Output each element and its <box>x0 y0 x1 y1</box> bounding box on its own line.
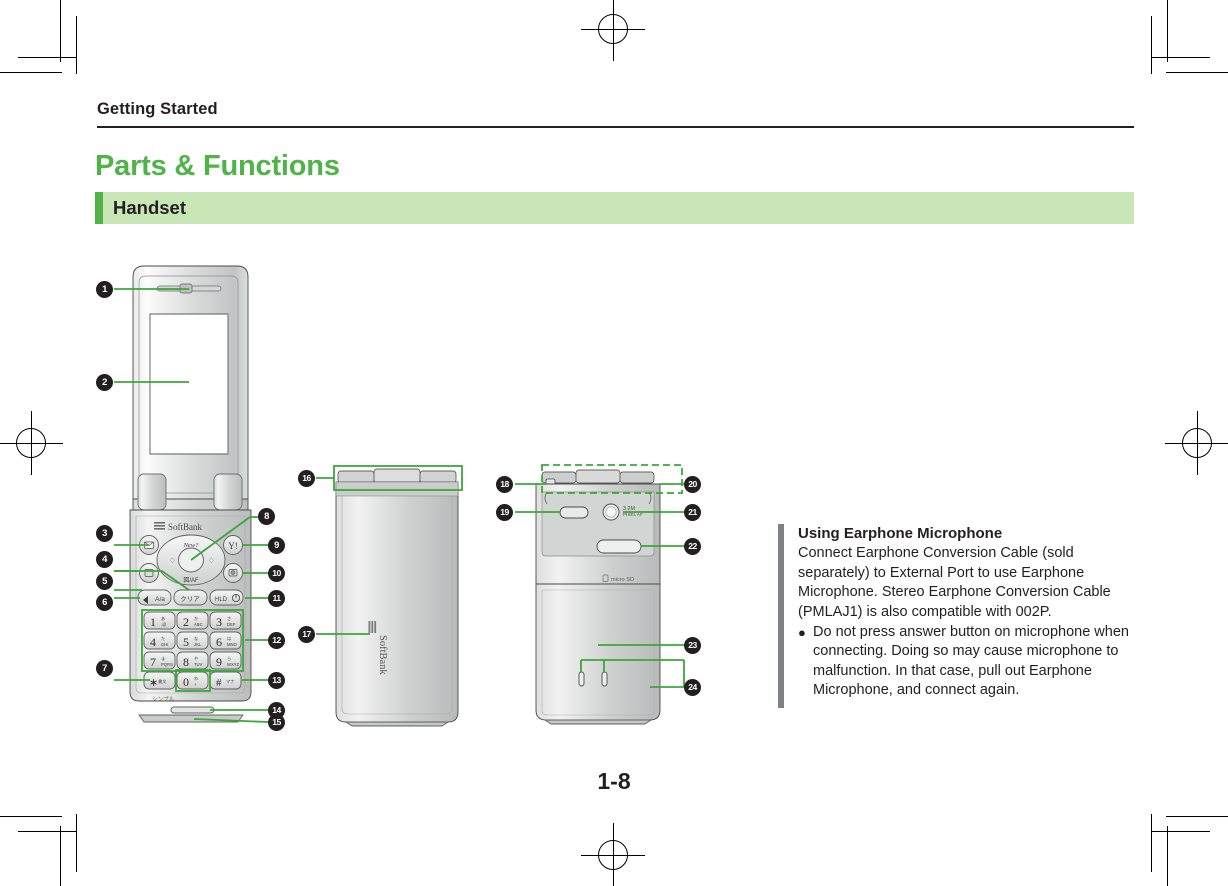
svg-text:New?: New? <box>183 542 200 549</box>
svg-text:6: 6 <box>216 635 222 649</box>
svg-text:クリア: クリア <box>180 595 200 603</box>
callout-19: 19 <box>496 504 513 521</box>
svg-text:1: 1 <box>150 615 156 629</box>
svg-text:DEF: DEF <box>227 622 236 627</box>
callout-10: 10 <box>268 565 285 582</box>
earphone-note: Using Earphone Microphone Connect Earpho… <box>778 524 1130 701</box>
svg-text:TUV: TUV <box>194 662 203 667</box>
callout-11: 11 <box>268 590 285 607</box>
callout-17: 17 <box>298 626 315 643</box>
callout-1: 1 <box>96 281 113 298</box>
svg-text:SoftBank: SoftBank <box>168 522 203 532</box>
callout-9: 9 <box>268 537 285 554</box>
callout-15: 15 <box>268 714 285 731</box>
svg-text:わ: わ <box>194 675 198 681</box>
callout-13: 13 <box>268 672 285 689</box>
crop-mark-top-left-v <box>60 0 61 62</box>
handset-figure: SoftBank New? 図/AF ♢ ♢ Y! <box>90 260 730 740</box>
crop-mark-bottom-left-v <box>60 826 61 886</box>
page-number: 1-8 <box>0 768 1228 795</box>
crop-mark-bottom-left-inner-h <box>18 831 76 832</box>
callout-3: 3 <box>96 525 113 542</box>
callout-6: 6 <box>96 594 113 611</box>
note-bullet-item: ● Do not press answer button on micropho… <box>798 623 1130 701</box>
document-page: Getting Started Parts & Functions Handse… <box>0 0 1228 886</box>
svg-text:SoftBank: SoftBank <box>377 635 388 675</box>
header-rule <box>97 126 1134 128</box>
svg-text:な: な <box>194 635 198 641</box>
crop-mark-bottom-right-inner-h <box>1152 831 1210 832</box>
crop-mark-top-right-inner-v <box>1151 16 1152 74</box>
callout-12: 12 <box>268 632 285 649</box>
page-title: Parts & Functions <box>95 150 340 183</box>
callout-2: 2 <box>96 374 113 391</box>
svg-text:HLD: HLD <box>215 597 228 603</box>
note-accent-bar <box>778 524 784 708</box>
svg-text:書文: 書文 <box>158 678 167 685</box>
svg-text:8: 8 <box>183 655 189 669</box>
svg-text:.@: .@ <box>161 622 166 627</box>
section-title: Handset <box>113 197 186 219</box>
svg-text:ABC: ABC <box>194 622 203 627</box>
svg-text:0: 0 <box>183 675 189 689</box>
callout-24: 24 <box>684 679 701 696</box>
note-title: Using Earphone Microphone <box>798 524 1130 543</box>
svg-text:MNO: MNO <box>227 642 238 647</box>
crop-mark-bottom-right-h <box>1166 816 1228 817</box>
section-header-bar: Handset <box>95 192 1134 224</box>
svg-text:micro SD: micro SD <box>611 577 634 583</box>
svg-text:シンプル: シンプル <box>152 696 175 703</box>
rear-view: 3.2M PIXEL AF micro SD <box>536 470 660 724</box>
svg-text:♢: ♢ <box>208 556 215 565</box>
svg-text:WXYZ: WXYZ <box>227 662 240 667</box>
svg-text:JKL: JKL <box>194 642 202 647</box>
section-accent <box>95 192 103 224</box>
callout-5: 5 <box>96 573 113 590</box>
crop-mark-top-left-h <box>0 72 62 73</box>
svg-text:Y!: Y! <box>228 541 238 551</box>
svg-text:5: 5 <box>183 635 189 649</box>
svg-text:GHI: GHI <box>161 642 168 647</box>
svg-text:ま: ま <box>161 656 165 661</box>
running-head: Getting Started <box>97 100 218 119</box>
crop-mark-bottom-left-h <box>0 816 62 817</box>
callout-21: 21 <box>684 504 701 521</box>
bullet-dot-icon: ● <box>798 623 813 701</box>
crop-mark-top-right-v <box>1167 0 1168 62</box>
side-closed-view: SoftBank <box>336 469 458 726</box>
svg-text:A/a: A/a <box>155 596 165 603</box>
callout-16: 16 <box>298 470 315 487</box>
crop-mark-top-right-h <box>1166 72 1228 73</box>
crop-mark-bottom-left-inner-v <box>76 814 77 872</box>
callout-22: 22 <box>684 538 701 555</box>
crop-mark-top-right-inner-h <box>1152 57 1210 58</box>
crop-mark-top-left-inner-h <box>18 57 76 58</box>
callout-8: 8 <box>258 508 275 525</box>
callout-20: 20 <box>684 476 701 493</box>
svg-text:♢: ♢ <box>169 556 176 565</box>
svg-text:図/AF: 図/AF <box>183 577 199 584</box>
svg-text:PQRS: PQRS <box>161 662 173 667</box>
svg-text:7: 7 <box>150 655 156 669</box>
svg-text:2: 2 <box>183 615 189 629</box>
callout-18: 18 <box>496 476 513 493</box>
svg-text:4: 4 <box>150 635 156 649</box>
front-open-view: SoftBank New? 図/AF ♢ ♢ Y! <box>130 266 251 722</box>
svg-text:さ: さ <box>227 615 231 621</box>
svg-text:や: や <box>194 655 198 662</box>
svg-text:∗: ∗ <box>149 677 158 689</box>
crop-mark-top-left-inner-v <box>76 16 77 74</box>
crop-mark-bottom-right-v <box>1167 826 1168 886</box>
note-bullet-text: Do not press answer button on microphone… <box>813 623 1130 701</box>
svg-text:9: 9 <box>216 655 222 669</box>
crop-mark-bottom-right-inner-v <box>1151 814 1152 872</box>
callout-4: 4 <box>96 551 113 568</box>
callout-23: 23 <box>684 637 701 654</box>
svg-text:3: 3 <box>216 615 222 629</box>
note-paragraph: Connect Earphone Conversion Cable (sold … <box>798 544 1130 622</box>
svg-text:#: # <box>216 677 222 689</box>
callout-7: 7 <box>96 660 113 677</box>
